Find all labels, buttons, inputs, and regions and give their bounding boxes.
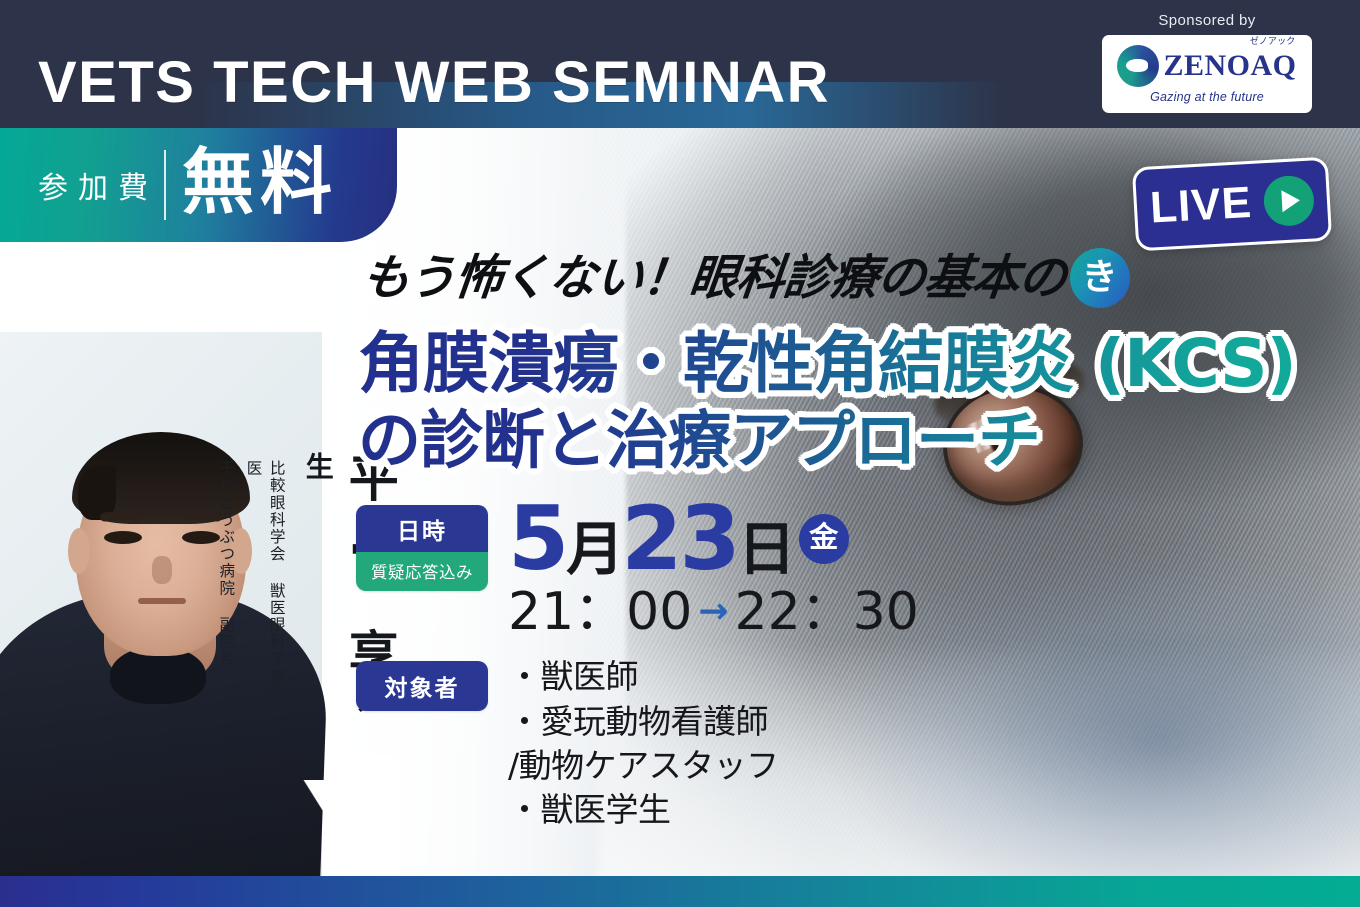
list-item: ・獣医学生 — [508, 788, 779, 832]
speaker-affiliation-2: 比較眼科学会 獣医眼科学専門医 — [241, 460, 288, 710]
list-item: ・愛玩動物看護師 — [508, 700, 779, 744]
audience-row: 対象者 ・獣医師 ・愛玩動物看護師 /動物ケアスタッフ ・獣医学生 — [356, 661, 1360, 832]
datetime-tag-bottom: 質疑応答込み — [356, 552, 488, 591]
time-line: 21：00 → 22：30 — [508, 585, 919, 640]
sponsor-tagline: Gazing at the future — [1150, 90, 1264, 104]
date-month-number: 5 — [508, 495, 566, 583]
audience-list: ・獣医師 ・愛玩動物看護師 /動物ケアスタッフ ・獣医学生 — [508, 655, 779, 832]
datetime-values: 5 月 23 日 金 21：00 → 22：30 — [508, 495, 919, 640]
portrait-ear-left — [68, 528, 90, 574]
live-badge: LIVE — [1132, 157, 1332, 252]
date-month-unit: 月 — [566, 520, 623, 578]
time-arrow-icon: → — [698, 593, 728, 631]
kicker-line: もう怖くない！眼科診療の基本の き — [362, 248, 1360, 308]
page-title: VETS TECH WEB SEMINAR — [38, 54, 830, 112]
fee-label: 参加費 — [38, 163, 158, 207]
sponsor-name: ZENOAQ — [1163, 51, 1296, 81]
sponsor-logo-card: ZENOAQ ゼノアック Gazing at the future — [1102, 35, 1312, 113]
portrait-mouth — [138, 598, 186, 604]
seminar-headline: 角膜潰瘍・乾性角結膜炎 (KCS) の診断と治療アプローチ — [358, 324, 1360, 479]
header-bar: VETS TECH WEB SEMINAR Sponsored by ZENOA… — [0, 0, 1360, 128]
datetime-tag-top: 日時 — [356, 505, 488, 552]
portrait-nose — [152, 556, 172, 584]
list-item: /動物ケアスタッフ — [508, 744, 779, 788]
sponsor-block: Sponsored by ZENOAQ ゼノアック Gazing at the … — [1102, 12, 1312, 113]
kicker-circle-badge: き — [1070, 248, 1130, 308]
list-item: ・獣医師 — [508, 655, 779, 699]
headline-line-1: 角膜潰瘍・乾性角結膜炎 (KCS) — [358, 324, 1360, 403]
fee-value: 無料 — [182, 147, 338, 219]
zenoaq-eye-mark-icon — [1117, 45, 1159, 87]
info-block: 日時 質疑応答込み 5 月 23 日 金 21：00 → 22：30 — [356, 505, 1360, 832]
main-content: もう怖くない！眼科診療の基本の き 角膜潰瘍・乾性角結膜炎 (KCS) の診断と… — [352, 248, 1360, 832]
datetime-row: 日時 質疑応答込み 5 月 23 日 金 21：00 → 22：30 — [356, 505, 1360, 640]
panel-diagonal-cut — [268, 780, 398, 876]
portrait-eye-left — [104, 531, 142, 544]
datetime-tag: 日時 質疑応答込み — [356, 505, 488, 591]
seminar-poster: VETS TECH WEB SEMINAR Sponsored by ZENOA… — [0, 0, 1360, 907]
kicker-text: もう怖くない！眼科診療の基本の — [359, 252, 1068, 305]
live-label: LIVE — [1149, 181, 1253, 231]
participation-fee-badge: 参加費 無料 — [0, 128, 397, 242]
date-weekday-badge: 金 — [799, 514, 849, 564]
date-day-number: 23 — [621, 495, 737, 583]
sponsor-logo-row: ZENOAQ ゼノアック — [1117, 45, 1296, 87]
time-end: 22：30 — [735, 585, 919, 640]
audience-tag: 対象者 — [356, 661, 488, 711]
play-icon — [1262, 174, 1315, 227]
sponsor-kana: ゼノアック — [1250, 34, 1296, 47]
play-triangle — [1282, 189, 1301, 212]
speaker-affiliation-1: 千村どうぶつ病院 副院長 — [214, 460, 237, 710]
date-day-unit: 日 — [738, 520, 795, 578]
time-start: 21：00 — [508, 585, 692, 640]
date-line: 5 月 23 日 金 — [508, 495, 919, 583]
headline-line-2: の診断と治療アプローチ — [358, 403, 1360, 479]
footer-gradient-bar — [0, 876, 1360, 907]
fee-divider — [164, 150, 166, 220]
sponsor-label: Sponsored by — [1158, 12, 1255, 29]
